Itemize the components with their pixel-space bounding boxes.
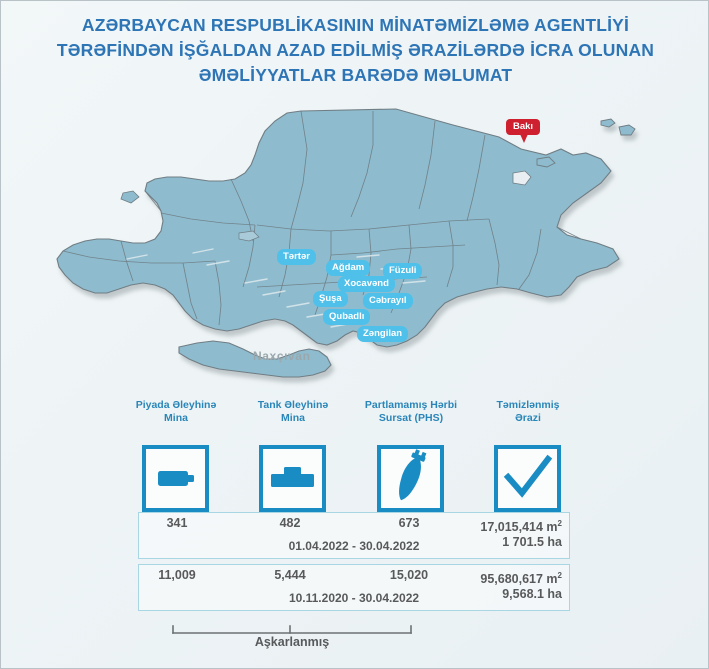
anti-personnel-mine-icon-box[interactable] (142, 445, 209, 512)
bracket-label: Aşkarlanmış (173, 635, 411, 649)
map-landmass (57, 109, 635, 377)
anti-tank-mine-icon (263, 449, 322, 508)
map-inner-feature (121, 191, 139, 203)
legend-row: Piyada Əleyhinə Mina Tank Əleyhinə Mina … (1, 399, 709, 517)
capital-marker-baku[interactable]: Bakı (506, 119, 540, 135)
city-label: Şuşa (319, 293, 342, 304)
cell-unexploded-ordnance: 15,020 (371, 568, 447, 582)
superscript-two: 2 (558, 519, 562, 528)
region-label-naxcivan: Naxçıvan (253, 349, 311, 363)
city-pill-susa[interactable]: Şuşa (313, 291, 348, 307)
city-pill-qubadli[interactable]: Qubadlı (323, 309, 370, 325)
map-svg (1, 97, 709, 387)
legend-column-cleared-area: Təmizlənmiş Ərazi (448, 399, 608, 425)
city-pill-cebrayil[interactable]: Cəbrayıl (363, 293, 413, 309)
unexploded-ordnance-icon (381, 449, 440, 508)
cell-unexploded-ordnance: 673 (371, 516, 447, 530)
statistics-table: 341 482 673 17,015,414 m2 1 701.5 ha 01.… (138, 512, 570, 616)
city-label: Füzuli (389, 265, 416, 276)
cell-anti-tank-mines: 5,444 (252, 568, 328, 582)
checkmark-icon (498, 449, 557, 508)
city-label: Cəbrayıl (369, 295, 407, 306)
city-pill-zengilan[interactable]: Zəngilan (357, 326, 408, 342)
city-label: Tərtər (283, 251, 310, 262)
cleared-area-m2: 17,015,414 m (480, 520, 557, 534)
legend-label-line1: Təmizlənmiş (448, 399, 608, 412)
title-line-3: ƏMƏLİYYATLAR BARƏDƏ MƏLUMAT (1, 63, 709, 88)
page-title: AZƏRBAYCAN RESPUBLİKASININ MİNATƏMİZLƏMƏ… (1, 13, 709, 88)
cell-anti-tank-mines: 482 (252, 516, 328, 530)
row-period: 01.04.2022 - 30.04.2022 (139, 539, 569, 553)
unexploded-ordnance-icon-box[interactable] (377, 445, 444, 512)
anti-tank-mine-icon-box[interactable] (259, 445, 326, 512)
anti-personnel-mine-icon (146, 449, 205, 508)
capital-label: Bakı (513, 121, 533, 132)
city-label: Qubadlı (329, 311, 364, 322)
superscript-two: 2 (558, 571, 562, 580)
city-pill-xocavend[interactable]: Xocavənd (338, 276, 395, 292)
infographic-page: AZƏRBAYCAN RESPUBLİKASININ MİNATƏMİZLƏMƏ… (0, 0, 709, 669)
city-label: Xocavənd (344, 278, 389, 289)
city-pill-agdam[interactable]: Ağdam (326, 260, 370, 276)
detected-bracket-group: Aşkarlanmış (1, 621, 709, 661)
azerbaijan-map: Bakı Naxçıvan Tərtər Ağdam Füzuli Xocavə… (1, 97, 709, 387)
city-pill-terter[interactable]: Tərtər (277, 249, 316, 265)
city-label: Ağdam (332, 262, 364, 273)
title-line-1: AZƏRBAYCAN RESPUBLİKASININ MİNATƏMİZLƏMƏ… (1, 13, 709, 38)
title-line-2: TƏRƏFİNDƏN İŞĞALDAN AZAD EDİLMİŞ ƏRAZİLƏ… (1, 38, 709, 63)
table-row: 341 482 673 17,015,414 m2 1 701.5 ha 01.… (138, 512, 570, 559)
cell-anti-personnel-mines: 341 (139, 516, 215, 530)
capital-pin-tail (520, 134, 528, 143)
table-row: 11,009 5,444 15,020 95,680,617 m2 9,568.… (138, 564, 570, 611)
row-period: 10.11.2020 - 30.04.2022 (139, 591, 569, 605)
checkmark-icon-box[interactable] (494, 445, 561, 512)
cell-anti-personnel-mines: 11,009 (139, 568, 215, 582)
legend-label-line2: Ərazi (448, 412, 608, 425)
city-label: Zəngilan (363, 328, 402, 339)
cleared-area-m2: 95,680,617 m (480, 572, 557, 586)
